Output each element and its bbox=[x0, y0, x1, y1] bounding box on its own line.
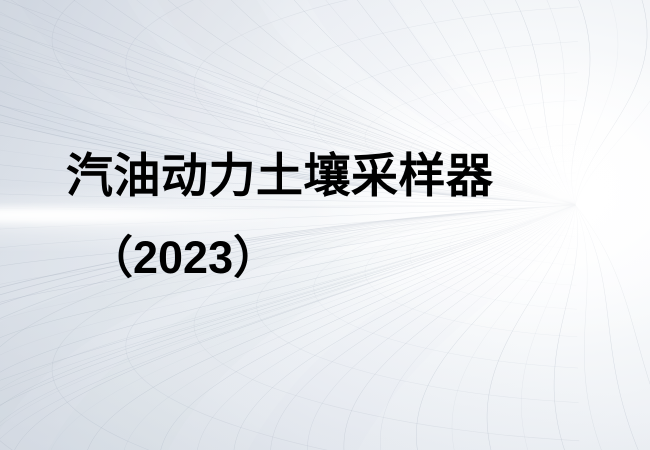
title-block: 汽油动力土壤采样器 （2023） bbox=[0, 0, 650, 450]
page-title: 汽油动力土壤采样器 bbox=[66, 148, 494, 204]
slide-canvas: 汽油动力土壤采样器 （2023） bbox=[0, 0, 650, 450]
page-title-year: （2023） bbox=[88, 230, 278, 286]
